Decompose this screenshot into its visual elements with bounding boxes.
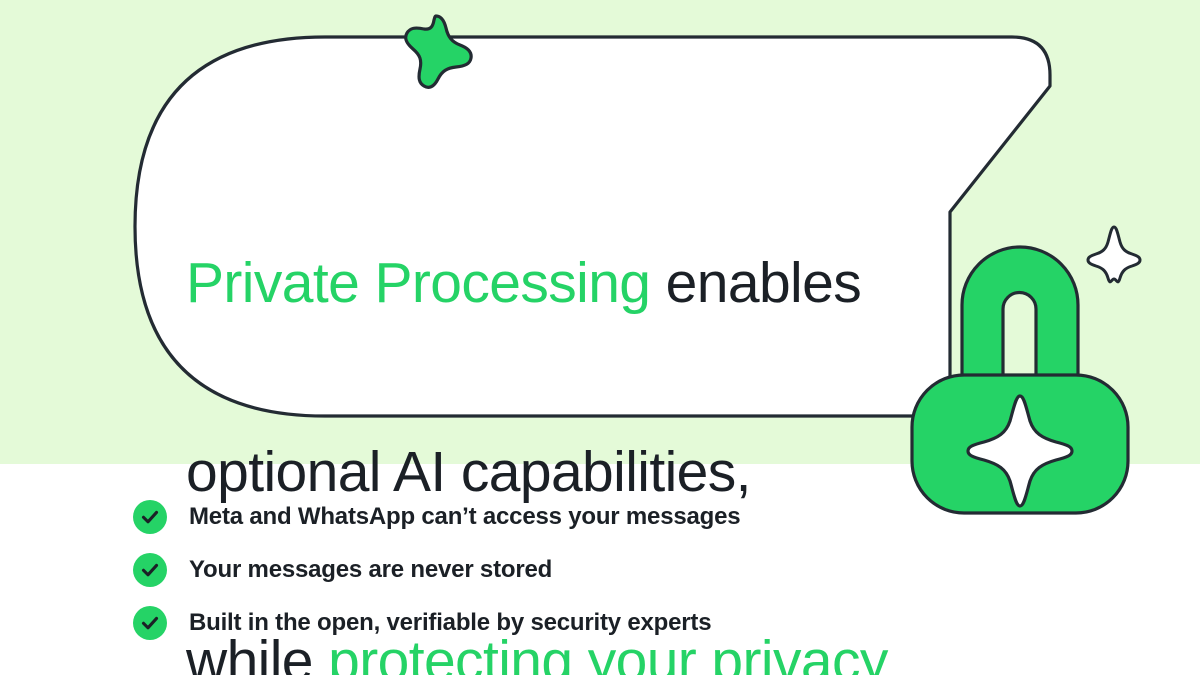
- check-circle-icon: [133, 553, 167, 587]
- check-circle-icon: [133, 500, 167, 534]
- list-item: Built in the open, verifiable by securit…: [133, 596, 933, 649]
- star-icon: [392, 12, 482, 90]
- headline-line-1: Private Processing enables: [186, 252, 946, 315]
- sparkle-icon: [1085, 222, 1143, 284]
- headline-plain-1: enables: [650, 251, 861, 315]
- list-item: Your messages are never stored: [133, 543, 933, 596]
- feature-list: Meta and WhatsApp can’t access your mess…: [133, 490, 933, 649]
- check-circle-icon: [133, 606, 167, 640]
- list-item-label: Your messages are never stored: [189, 556, 552, 584]
- list-item-label: Built in the open, verifiable by securit…: [189, 609, 711, 637]
- list-item-label: Meta and WhatsApp can’t access your mess…: [189, 503, 740, 531]
- headline-accent-1: Private Processing: [186, 251, 650, 315]
- list-item: Meta and WhatsApp can’t access your mess…: [133, 490, 933, 543]
- promo-graphic: Private Processing enables optional AI c…: [0, 0, 1200, 675]
